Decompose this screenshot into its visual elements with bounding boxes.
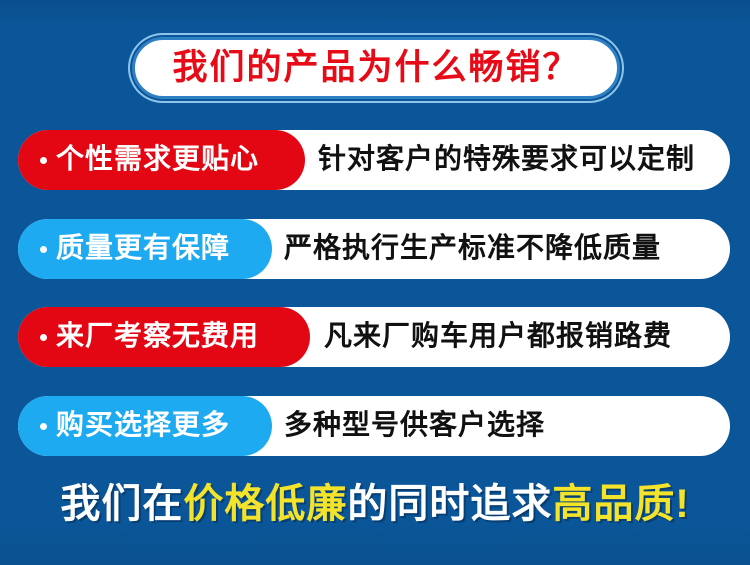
feature-row: 来厂考察无费用 凡来厂购车用户都报销路费 — [18, 307, 730, 367]
feature-description: 针对客户的特殊要求可以定制 — [318, 130, 695, 190]
feature-tag: 购买选择更多 — [18, 396, 272, 456]
feature-tag: 个性需求更贴心 — [18, 130, 305, 190]
footer-slogan-part-2: 价格低廉 — [183, 482, 347, 526]
feature-tag-label: 购买选择更多 — [56, 411, 230, 439]
feature-tag-label: 个性需求更贴心 — [56, 145, 259, 173]
footer-slogan-part-1: 我们在 — [60, 482, 183, 526]
feature-description-text: 多种型号供客户选择 — [284, 411, 545, 439]
footer-slogan-part-3: 的同时追求 — [347, 482, 552, 526]
feature-description: 严格执行生产标准不降低质量 — [284, 219, 661, 279]
promotional-poster: 我们的产品为什么畅销？ 个性需求更贴心 针对客户的特殊要求可以定制 质量更有保障… — [0, 0, 750, 565]
feature-row: 购买选择更多 多种型号供客户选择 — [18, 396, 730, 456]
feature-tag-label: 质量更有保障 — [56, 234, 230, 262]
feature-tag-label: 来厂考察无费用 — [56, 322, 259, 350]
feature-description: 凡来厂购车用户都报销路费 — [324, 307, 672, 367]
bullet-dot-icon — [40, 334, 47, 341]
page-title: 我们的产品为什么畅销？ — [172, 50, 579, 85]
footer-slogan: 我们在价格低廉的同时追求高品质! — [0, 484, 750, 524]
feature-tag: 来厂考察无费用 — [18, 307, 310, 367]
feature-row: 个性需求更贴心 针对客户的特殊要求可以定制 — [18, 130, 730, 190]
bullet-dot-icon — [40, 157, 47, 164]
feature-tag: 质量更有保障 — [18, 219, 272, 279]
feature-description: 多种型号供客户选择 — [284, 396, 545, 456]
feature-description-text: 凡来厂购车用户都报销路费 — [324, 322, 672, 350]
title-banner: 我们的产品为什么畅销？ — [132, 37, 620, 99]
feature-description-text: 严格执行生产标准不降低质量 — [284, 234, 661, 262]
footer-slogan-part-4: 高品质! — [552, 482, 689, 526]
feature-row: 质量更有保障 严格执行生产标准不降低质量 — [18, 219, 730, 279]
feature-description-text: 针对客户的特殊要求可以定制 — [318, 145, 695, 173]
bullet-dot-icon — [40, 246, 47, 253]
bullet-dot-icon — [40, 423, 47, 430]
